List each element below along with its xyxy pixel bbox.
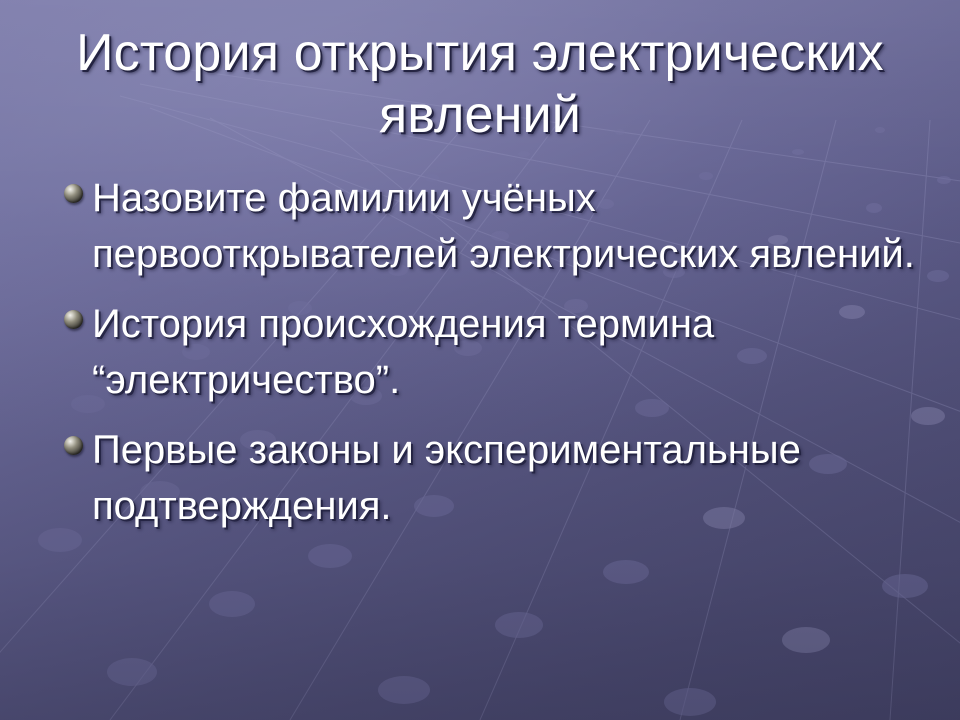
list-item: История происхождения термина “электриче… (60, 296, 916, 408)
sphere-bullet-icon (64, 436, 83, 455)
list-item-text: Назовите фамилии учёных первооткрывателе… (92, 176, 915, 276)
sphere-bullet-icon (64, 184, 83, 203)
list-item-text: История происхождения термина “электриче… (92, 302, 714, 402)
sphere-bullet-icon (64, 310, 83, 329)
slide-title: История открытия электрических явлений (40, 22, 920, 146)
slide-body: Назовите фамилии учёных первооткрывателе… (60, 170, 916, 534)
list-item: Первые законы и экспериментальные подтве… (60, 422, 916, 534)
list-item: Назовите фамилии учёных первооткрывателе… (60, 170, 916, 282)
presentation-slide: История открытия электрических явлений Н… (0, 0, 960, 720)
list-item-text: Первые законы и экспериментальные подтве… (92, 428, 801, 528)
